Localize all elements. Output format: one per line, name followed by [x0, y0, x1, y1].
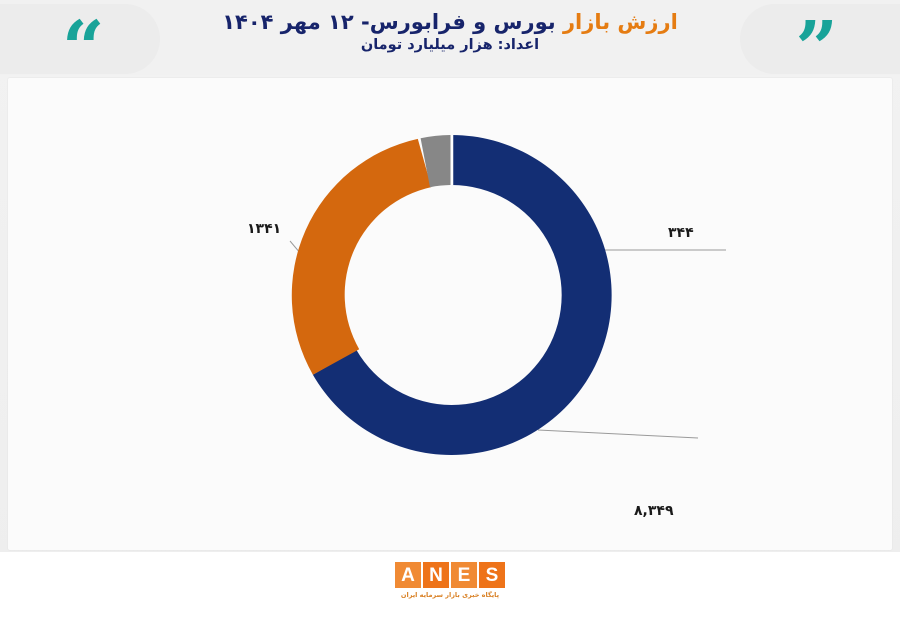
donut-segment-farabourse: [292, 139, 432, 375]
chart-card: ۳۴۴ ۱۳۴۱ ۸,۳۴۹ بورس بازار اول و دوم فراب…: [8, 78, 892, 550]
footer-bar: S E N A پایگاه خبری بازار سرمایه ایران: [0, 552, 900, 623]
page-title: ارزش بازار بورس و فرابورس- ۱۲ مهر ۱۴۰۴: [0, 8, 900, 36]
leader-line-bourse: [538, 430, 698, 438]
title-rest: بورس و فرابورس- ۱۲ مهر ۱۴۰۴: [222, 10, 563, 34]
value-label-bourse: ۸,۳۴۹: [634, 503, 674, 519]
page-root: “ ” ارزش بازار بورس و فرابورس- ۱۲ مهر ۱۴…: [0, 0, 900, 623]
page-subtitle: اعداد: هزار میلیارد تومان: [0, 37, 900, 53]
chart-area: ۳۴۴ ۱۳۴۱ ۸,۳۴۹: [8, 78, 892, 478]
sena-letter-e: E: [451, 562, 477, 588]
sena-logo[interactable]: S E N A پایگاه خبری بازار سرمایه ایران: [395, 562, 505, 599]
donut-chart: [8, 78, 892, 478]
title-block: ارزش بازار بورس و فرابورس- ۱۲ مهر ۱۴۰۴ ا…: [0, 8, 900, 53]
sena-letter-s: S: [479, 562, 505, 588]
sena-logo-tagline: پایگاه خبری بازار سرمایه ایران: [395, 591, 505, 599]
sena-letter-a: A: [395, 562, 421, 588]
value-label-paye: ۳۴۴: [668, 225, 694, 241]
sena-letter-n: N: [423, 562, 449, 588]
title-highlight: ارزش بازار: [563, 10, 678, 34]
sena-logo-letters: S E N A: [395, 562, 505, 588]
value-label-farabourse: ۱۳۴۱: [247, 221, 281, 237]
header-bar: “ ” ارزش بازار بورس و فرابورس- ۱۲ مهر ۱۴…: [0, 0, 900, 75]
